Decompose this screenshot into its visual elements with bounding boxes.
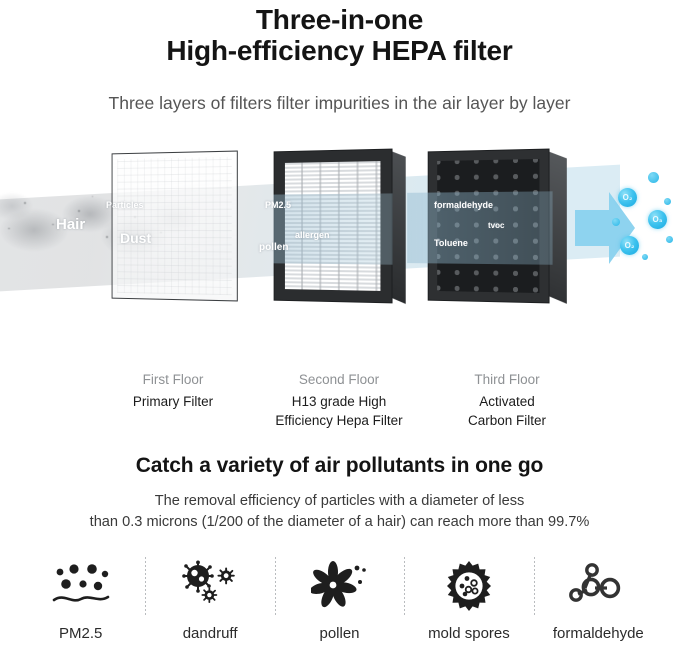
pm25-dots-icon <box>16 555 145 615</box>
pollutant-icon-row: PM2.5 <box>0 555 679 642</box>
primary-filter-panel <box>112 150 238 301</box>
filter-stack-diagram: O₂ O₃ O₂ Hair Particles Dust PM2.5 aller… <box>0 138 679 368</box>
pollutant-label: pollen <box>275 625 404 642</box>
molecule-dot <box>648 172 659 183</box>
clean-air-molecules: O₂ O₃ O₂ <box>612 164 679 274</box>
diagram-label-particles: Particles <box>106 200 144 210</box>
diagram-label-toluene: Toluene <box>434 238 468 248</box>
formaldehyde-molecule-icon <box>534 555 663 615</box>
diagram-label-dust: Dust <box>120 230 151 246</box>
diagram-label-tvoc: tvoc <box>488 221 504 230</box>
diagram-label-pollen: pollen <box>259 242 288 253</box>
molecule-bubble: O₃ <box>648 210 667 229</box>
layer-name-label: H13 grade High Efficiency Hepa Filter <box>244 392 434 430</box>
dandruff-spore-icon <box>145 555 274 615</box>
layer-name-label: Primary Filter <box>78 392 268 411</box>
molecule-dot <box>642 254 648 260</box>
molecule-bubble: O₂ <box>620 236 639 255</box>
pollen-flower-icon <box>275 555 404 615</box>
hepa-filter-frame <box>274 148 393 303</box>
diagram-label-pm25: PM2.5 <box>265 200 291 210</box>
pollutant-section: Catch a variety of air pollutants in one… <box>0 454 679 642</box>
layer-captions: First Floor Primary Filter Second Floor … <box>0 372 679 438</box>
page-title-line1: Three-in-one <box>0 4 679 35</box>
pollutant-item-dandruff: dandruff <box>145 555 274 642</box>
molecule-bubble: O₂ <box>618 188 637 207</box>
layer-floor-label: First Floor <box>78 372 268 387</box>
product-infographic: Three-in-one High-efficiency HEPA filter… <box>0 0 679 645</box>
layer-caption-third: Third Floor Activated Carbon Filter <box>412 372 602 430</box>
molecule-dot <box>612 218 620 226</box>
layer-floor-label: Second Floor <box>244 372 434 387</box>
diagram-label-hair: Hair <box>56 216 85 233</box>
section-heading: Catch a variety of air pollutants in one… <box>0 454 679 478</box>
diagram-label-formaldehyde: formaldehyde <box>434 200 493 210</box>
pollutant-item-mold-spores: mold spores <box>404 555 533 642</box>
pollutant-item-pollen: pollen <box>275 555 404 642</box>
molecule-dot <box>664 198 671 205</box>
header: Three-in-one High-efficiency HEPA filter… <box>0 0 679 114</box>
layer-caption-second: Second Floor H13 grade High Efficiency H… <box>244 372 434 430</box>
pollutant-label: dandruff <box>145 625 274 642</box>
layer-floor-label: Third Floor <box>412 372 602 387</box>
page-title-line2: High-efficiency HEPA filter <box>0 35 679 66</box>
page-subtitle: Three layers of filters filter impuritie… <box>0 93 679 114</box>
efficiency-text-line1: The removal efficiency of particles with… <box>0 491 679 512</box>
mold-spore-icon <box>404 555 533 615</box>
layer-name-label: Activated Carbon Filter <box>412 392 602 430</box>
pollutant-label: PM2.5 <box>16 625 145 642</box>
molecule-dot <box>666 236 673 243</box>
hepa-pleated-media <box>285 161 381 291</box>
hepa-filter-panel <box>274 148 393 303</box>
pollutant-item-formaldehyde: formaldehyde <box>534 555 663 642</box>
diagram-label-allergen: allergen <box>295 230 330 240</box>
layer-caption-first: First Floor Primary Filter <box>78 372 268 411</box>
pollutant-label: mold spores <box>404 625 533 642</box>
pollutant-item-pm25: PM2.5 <box>16 555 145 642</box>
pollutant-label: formaldehyde <box>534 625 663 642</box>
efficiency-text-line2: than 0.3 microns (1/200 of the diameter … <box>0 512 679 533</box>
